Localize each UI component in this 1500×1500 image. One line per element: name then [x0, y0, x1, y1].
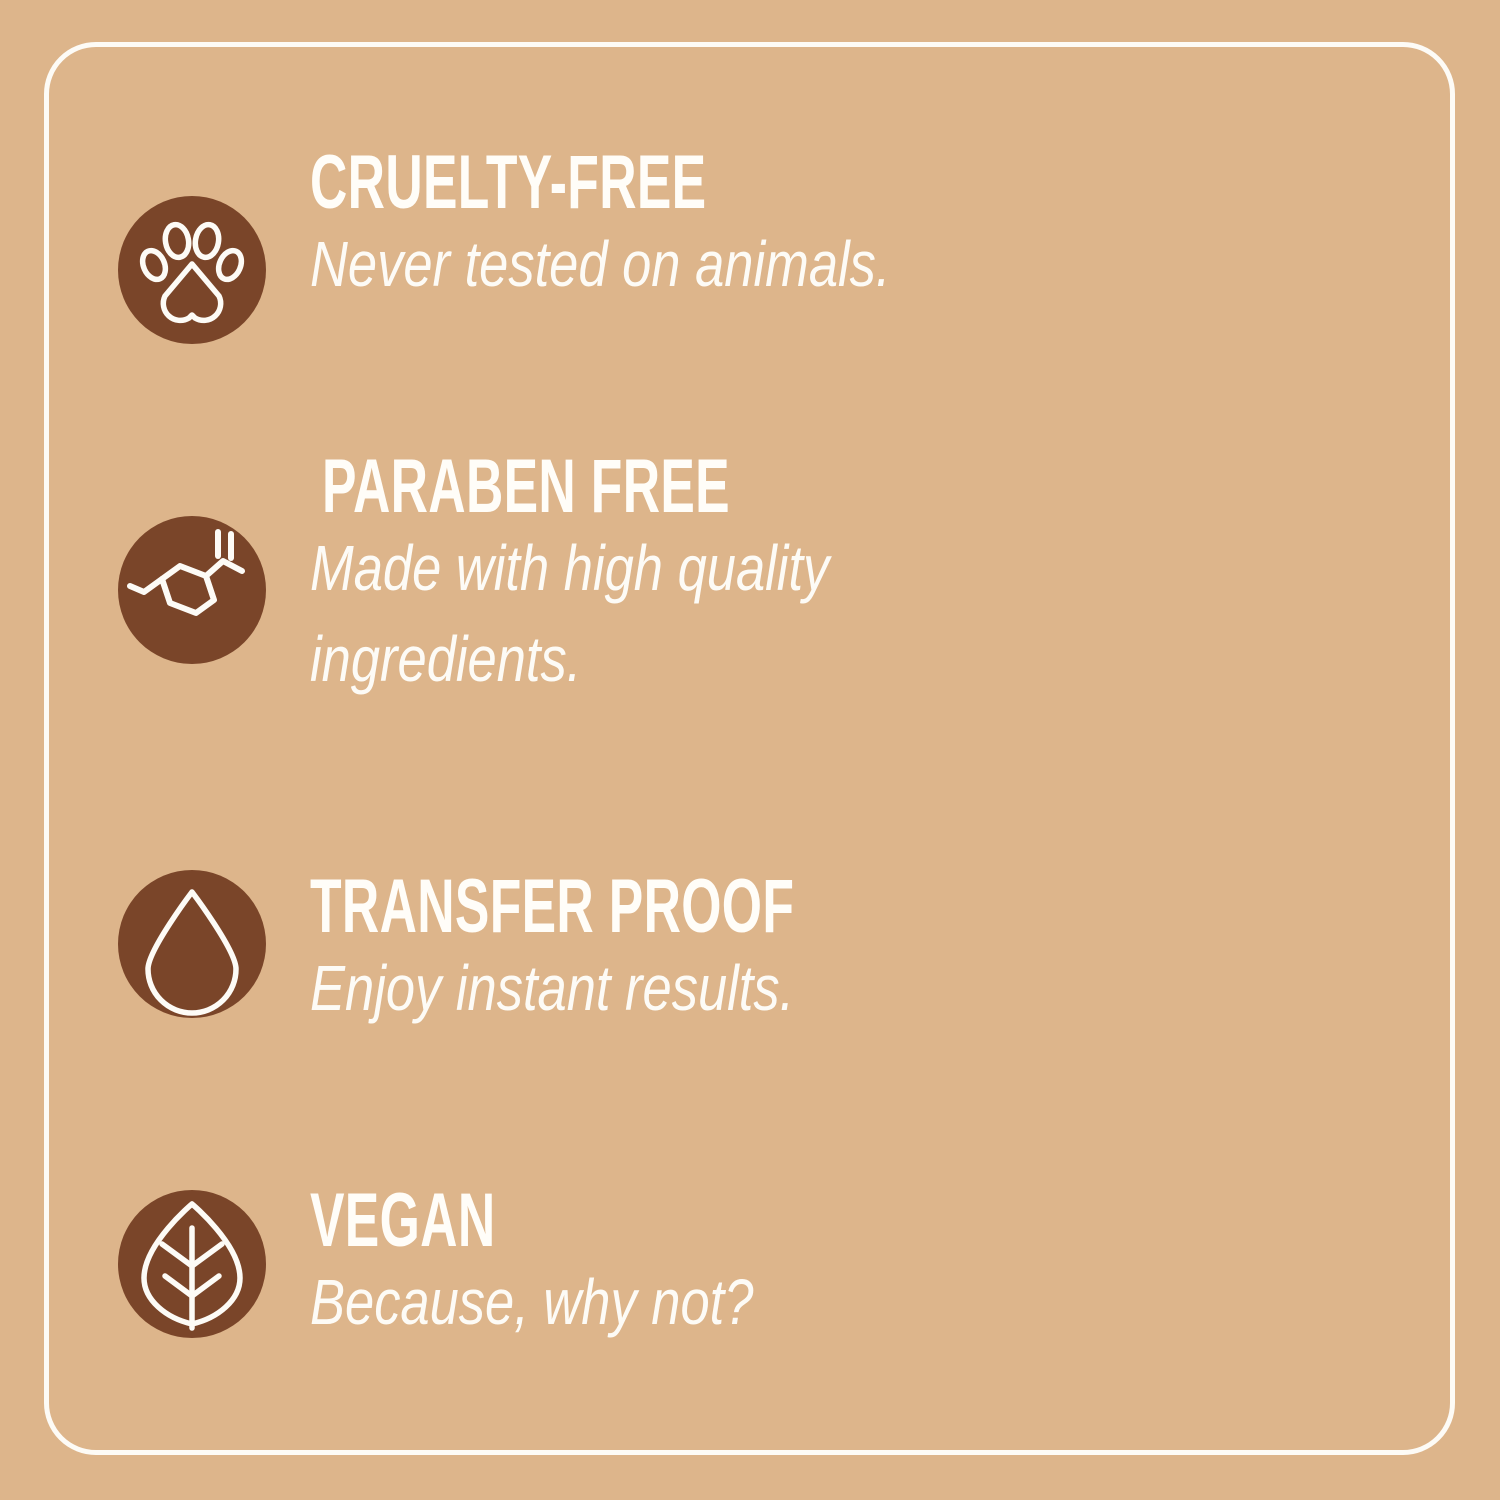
feature-headline: CRUELTY-FREE	[310, 148, 791, 219]
feature-text-paraben-free: PARABEN FREE Made with high quality ingr…	[310, 452, 943, 704]
leaf-icon	[118, 1190, 266, 1338]
feature-headline: PARABEN FREE	[322, 452, 744, 523]
feature-subline: Enjoy instant results.	[310, 943, 894, 1034]
feature-text-cruelty-free: CRUELTY-FREE Never tested on animals.	[310, 148, 1018, 310]
feature-text-transfer-proof: TRANSFER PROOF Enjoy instant results.	[310, 872, 1022, 1034]
feature-subline: Because, why not?	[310, 1257, 753, 1348]
feature-text-vegan: VEGAN Because, why not?	[310, 1186, 851, 1348]
paw-print-icon	[118, 196, 266, 344]
product-benefits-infographic: CRUELTY-FREE Never tested on animals. PA…	[0, 0, 1500, 1500]
feature-headline: VEGAN	[310, 1186, 678, 1257]
feature-subline: Made with high quality ingredients.	[310, 523, 829, 705]
molecule-icon	[118, 516, 266, 664]
feature-subline: Never tested on animals.	[310, 219, 890, 310]
feature-headline: TRANSFER PROOF	[310, 872, 794, 943]
water-droplet-icon	[118, 870, 266, 1018]
